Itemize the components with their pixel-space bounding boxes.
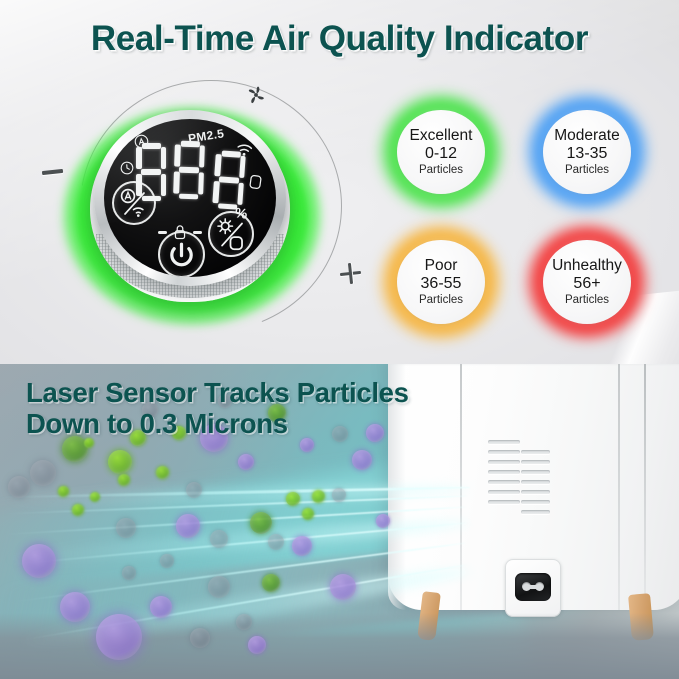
page-title: Real-Time Air Quality Indicator	[0, 19, 679, 59]
segment-digit-2	[173, 140, 205, 199]
purifier-seam	[644, 364, 646, 610]
particle	[236, 614, 252, 630]
auto-mode-icon	[133, 133, 149, 149]
particle	[150, 596, 172, 618]
particle	[22, 544, 56, 578]
badge-unit: Particles	[565, 294, 609, 307]
badge-title: Unhealthy	[552, 258, 622, 274]
badge-range: 0-12	[425, 144, 457, 164]
power-button[interactable]	[158, 231, 205, 277]
particle	[96, 614, 142, 660]
particle	[58, 486, 69, 497]
dial-chrome-bezel: PM2.5 %	[94, 110, 286, 286]
particle	[352, 450, 372, 470]
particle	[248, 636, 266, 654]
particle	[8, 476, 30, 498]
bottom-title: Laser Sensor Tracks Particles Down to 0.…	[26, 378, 566, 440]
badge-title: Moderate	[554, 128, 619, 144]
particle	[250, 512, 272, 534]
badge-unit: Particles	[565, 164, 609, 177]
badge-range: 36-55	[421, 274, 462, 294]
particle	[210, 530, 228, 548]
light-filter-button[interactable]	[208, 211, 254, 257]
product-feature-graphic: Real-Time Air Quality Indicator	[0, 0, 679, 679]
timer-clock-icon	[120, 161, 135, 176]
particle	[208, 576, 230, 598]
dial-minus-mark	[42, 169, 63, 175]
particle	[292, 536, 312, 556]
purifier-top-edge	[388, 364, 679, 366]
power-socket-plate	[505, 559, 561, 617]
particle	[286, 492, 300, 506]
power-socket	[515, 573, 551, 601]
aqi-legend-group: Excellent 0-12 Particles Moderate 13-35 …	[378, 96, 668, 340]
bottom-panel: Laser Sensor Tracks Particles Down to 0.…	[0, 364, 679, 679]
aqi-badge-poor: Poor 36-55 Particles	[382, 226, 500, 338]
particle	[190, 628, 210, 648]
badge-core: Excellent 0-12 Particles	[397, 110, 485, 194]
particle	[108, 450, 132, 474]
particle	[268, 534, 284, 550]
badge-title: Poor	[425, 258, 458, 274]
particle	[30, 460, 56, 486]
badge-unit: Particles	[419, 294, 463, 307]
particle	[330, 574, 356, 600]
auto-wifi-button[interactable]	[112, 181, 156, 225]
aqi-badge-unhealthy: Unhealthy 56+ Particles	[528, 226, 646, 338]
purifier-vent-right	[521, 450, 551, 516]
badge-range: 13-35	[567, 144, 608, 164]
auto-wifi-icon	[114, 183, 154, 223]
badge-core: Unhealthy 56+ Particles	[543, 240, 631, 324]
segment-digit-3	[212, 150, 246, 210]
particle	[116, 518, 136, 538]
particle	[156, 466, 169, 479]
particle	[60, 592, 90, 622]
particle	[302, 508, 314, 520]
air-purifier-control-dial[interactable]: PM2.5 %	[34, 76, 354, 336]
aqi-badge-excellent: Excellent 0-12 Particles	[382, 96, 500, 208]
light-filter-icon	[210, 213, 252, 255]
badge-unit: Particles	[419, 164, 463, 177]
badge-core: Moderate 13-35 Particles	[543, 110, 631, 194]
particle	[72, 504, 84, 516]
lcd-display: PM2.5 %	[104, 119, 276, 277]
badge-range: 56+	[573, 274, 600, 294]
wifi-icon	[235, 142, 253, 158]
particle	[176, 514, 200, 538]
aqi-badge-moderate: Moderate 13-35 Particles	[528, 96, 646, 208]
fan-icon	[243, 83, 269, 107]
top-panel: Real-Time Air Quality Indicator	[0, 0, 679, 364]
power-icon	[160, 233, 203, 276]
particle	[332, 488, 346, 502]
badge-title: Excellent	[410, 128, 473, 144]
particle	[118, 474, 130, 486]
bottom-title-line2: Down to 0.3 Microns	[26, 409, 566, 440]
particle	[122, 566, 136, 580]
particle	[300, 438, 314, 452]
filter-reset-icon	[247, 173, 264, 191]
badge-core: Poor 36-55 Particles	[397, 240, 485, 324]
particle	[186, 482, 202, 498]
bottom-title-line1: Laser Sensor Tracks Particles	[26, 378, 566, 409]
particle	[90, 492, 100, 502]
particle	[262, 574, 280, 592]
purifier-seam	[618, 364, 620, 610]
particle	[376, 514, 390, 528]
particle	[312, 490, 325, 503]
particle	[238, 454, 254, 470]
particle	[160, 554, 174, 568]
